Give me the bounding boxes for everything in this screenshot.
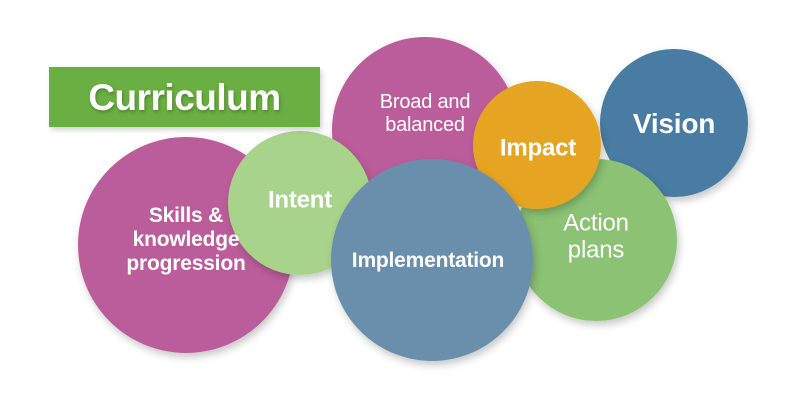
venn-circles-layer [0, 0, 800, 400]
curriculum-venn-diagram: Skills & knowledge progression Broad and… [0, 0, 800, 400]
curriculum-title-banner: Curriculum [49, 67, 320, 127]
venn-circle-implementation [331, 159, 533, 361]
curriculum-banner-label: Curriculum [88, 79, 280, 116]
